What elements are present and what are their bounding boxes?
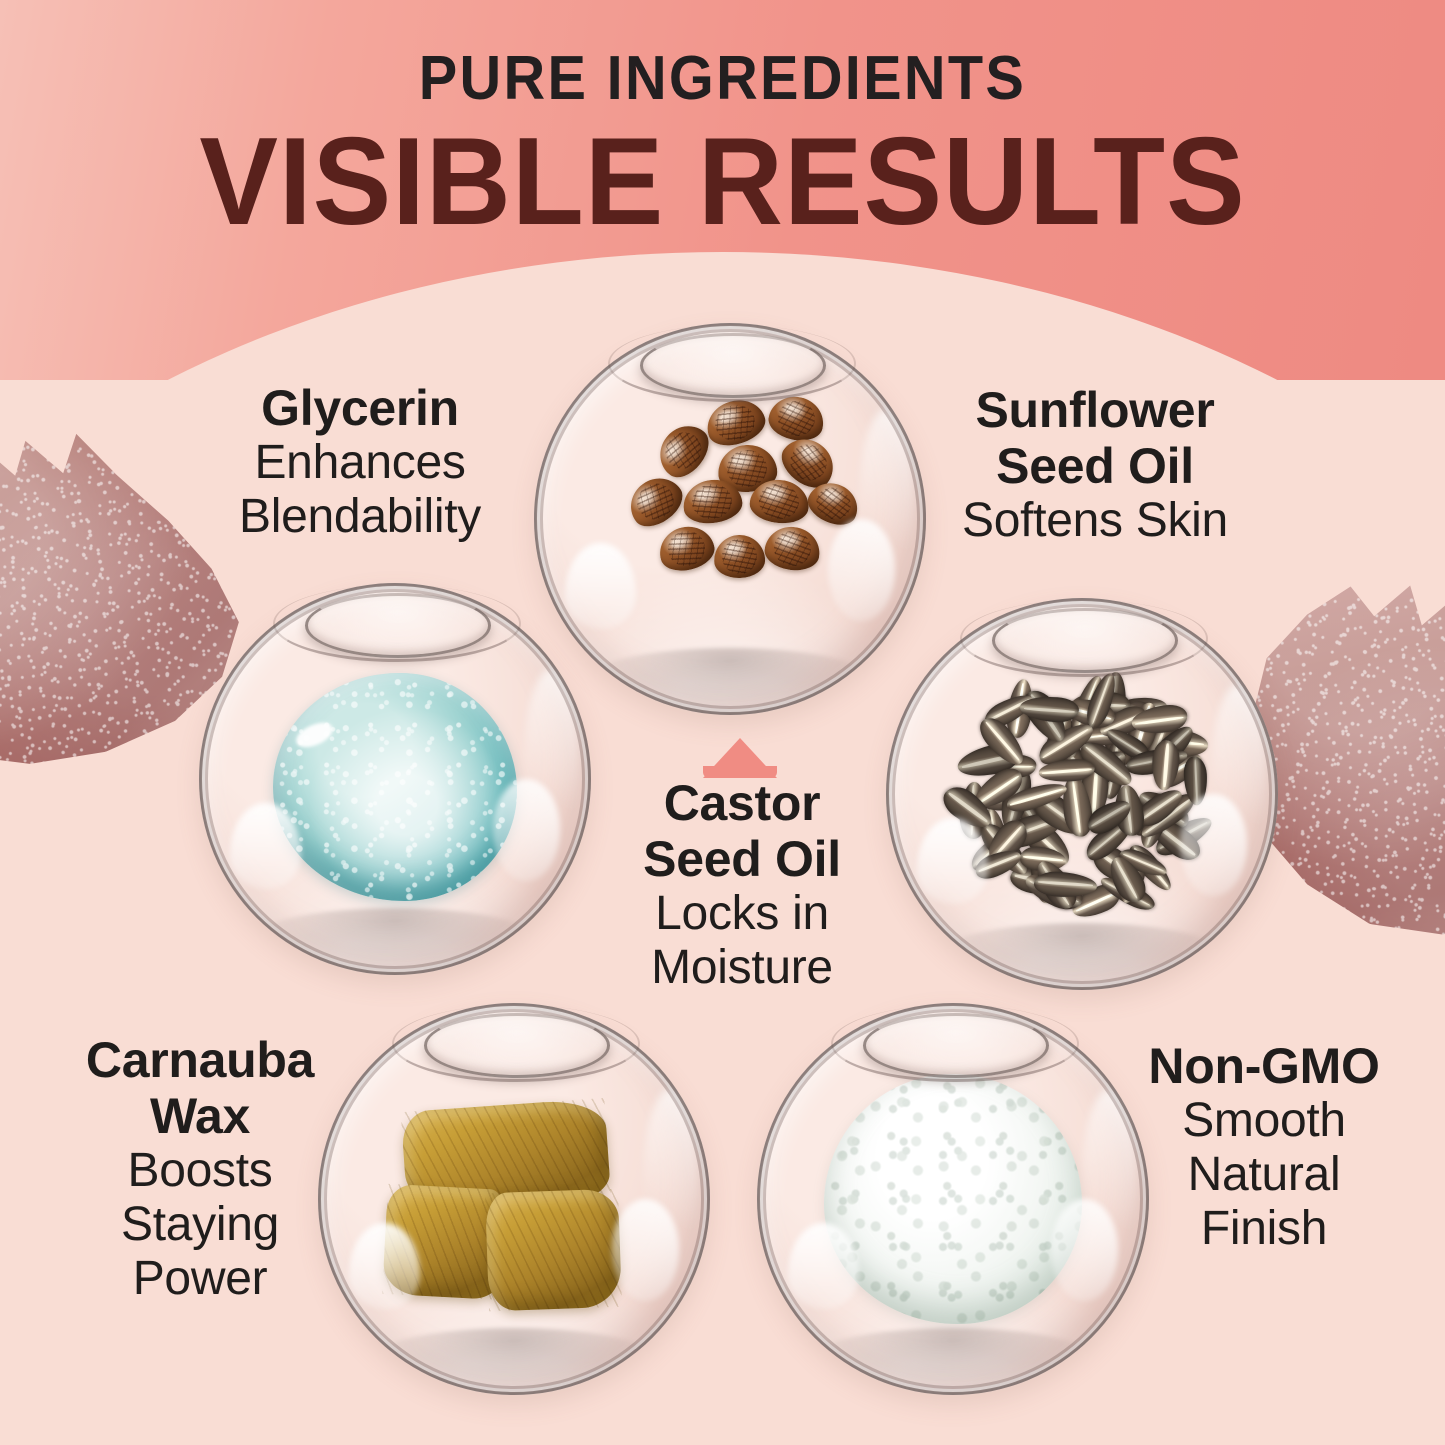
inner-shadow-carnauba (373, 1328, 655, 1391)
ingredient-sphere-carnauba-wax (318, 1003, 710, 1395)
label-benefit-non-gmo-line1: Smooth (1108, 1094, 1420, 1148)
wax-chunk-right (485, 1189, 622, 1311)
label-benefit-castor-line1: Locks in (598, 887, 886, 941)
gel-bubbles (273, 673, 516, 900)
castor-seed (714, 534, 766, 579)
page-eyebrow: PURE INGREDIENTS (51, 48, 1395, 110)
ingredient-sphere-glycerin (199, 583, 591, 975)
label-title-castor-line1: Castor (598, 775, 886, 831)
label-benefit-glycerin-line1: Enhances (185, 436, 535, 490)
castor-seed (655, 521, 719, 576)
castor-seed-gloss (765, 488, 786, 500)
glass-mouth-glycerin (305, 593, 491, 658)
highlight-arc-castor (859, 409, 914, 589)
ingredient-sphere-non-gmo (757, 1003, 1149, 1395)
label-title-carnauba-line2: Wax (40, 1088, 360, 1144)
inner-shadow-castor (589, 648, 871, 711)
castor-seed-gloss (780, 535, 800, 547)
label-benefit-glycerin-line2: Blendability (185, 490, 535, 544)
infographic-canvas: PURE INGREDIENTS VISIBLE RESULTS (0, 0, 1445, 1445)
glass-mouth-non-gmo (863, 1013, 1049, 1078)
white-powder-content (824, 1074, 1083, 1325)
label-non-gmo: Non-GMO Smooth Natural Finish (1108, 1038, 1420, 1255)
castor-seed-gloss (727, 544, 745, 554)
label-benefit-carnauba-line2: Staying (40, 1198, 360, 1252)
castor-seed-gloss (824, 488, 843, 503)
label-benefit-sunflower-line1: Softens Skin (930, 494, 1260, 548)
castor-seed (701, 393, 770, 452)
ingredient-sphere-sunflower-seed-oil (886, 598, 1278, 990)
label-title-carnauba-line1: Carnauba (40, 1032, 360, 1088)
highlight-arc-glycerin (524, 669, 579, 849)
headline-block: PURE INGREDIENTS VISIBLE RESULTS (0, 0, 1445, 244)
label-sunflower-seed-oil: Sunflower Seed Oil Softens Skin (930, 382, 1260, 548)
label-benefit-castor-line2: Moisture (598, 941, 886, 995)
glycerin-gel-content (273, 673, 516, 900)
glass-mouth-castor (640, 333, 826, 398)
glass-mouth-carnauba (424, 1013, 610, 1078)
castor-seed (763, 523, 823, 573)
castor-seed-gloss (638, 488, 659, 507)
inner-shadow-non-gmo (812, 1328, 1094, 1391)
castor-seed-gloss (800, 445, 821, 464)
label-carnauba-wax: Carnauba Wax Boosts Staying Power (40, 1032, 360, 1305)
label-benefit-non-gmo-line2: Natural (1108, 1148, 1420, 1202)
inner-shadow-glycerin (254, 908, 536, 971)
highlight-arc-sunflower (1211, 684, 1266, 864)
castor-seed-gloss (719, 410, 741, 425)
label-title-glycerin: Glycerin (185, 380, 535, 436)
castor-seed (621, 468, 691, 535)
castor-seed-gloss (784, 404, 804, 417)
castor-seed-gloss (671, 535, 691, 549)
label-glycerin: Glycerin Enhances Blendability (185, 380, 535, 544)
inner-shadow-sunflower (941, 923, 1223, 986)
castor-seed-gloss (665, 439, 684, 460)
glass-mouth-sunflower (992, 608, 1178, 673)
label-castor-seed-oil: Castor Seed Oil Locks in Moisture (598, 775, 886, 995)
label-benefit-non-gmo-line3: Finish (1108, 1202, 1420, 1256)
ingredient-sphere-castor-seed-oil (534, 323, 926, 715)
castor-seed (765, 392, 828, 446)
page-title: VISIBLE RESULTS (36, 120, 1409, 244)
label-title-sunflower-line1: Sunflower (930, 382, 1260, 438)
castor-seed-gloss (733, 454, 754, 466)
label-title-castor-line2: Seed Oil (598, 831, 886, 887)
sunflower-seeds-content (949, 661, 1216, 928)
powder-texture (824, 1074, 1083, 1325)
label-benefit-carnauba-line1: Boosts (40, 1144, 360, 1198)
highlight-arc-carnauba (643, 1089, 698, 1269)
label-title-sunflower-line2: Seed Oil (930, 438, 1260, 494)
label-title-non-gmo: Non-GMO (1108, 1038, 1420, 1094)
label-benefit-carnauba-line3: Power (40, 1252, 360, 1306)
castor-seed-gloss (697, 489, 718, 501)
